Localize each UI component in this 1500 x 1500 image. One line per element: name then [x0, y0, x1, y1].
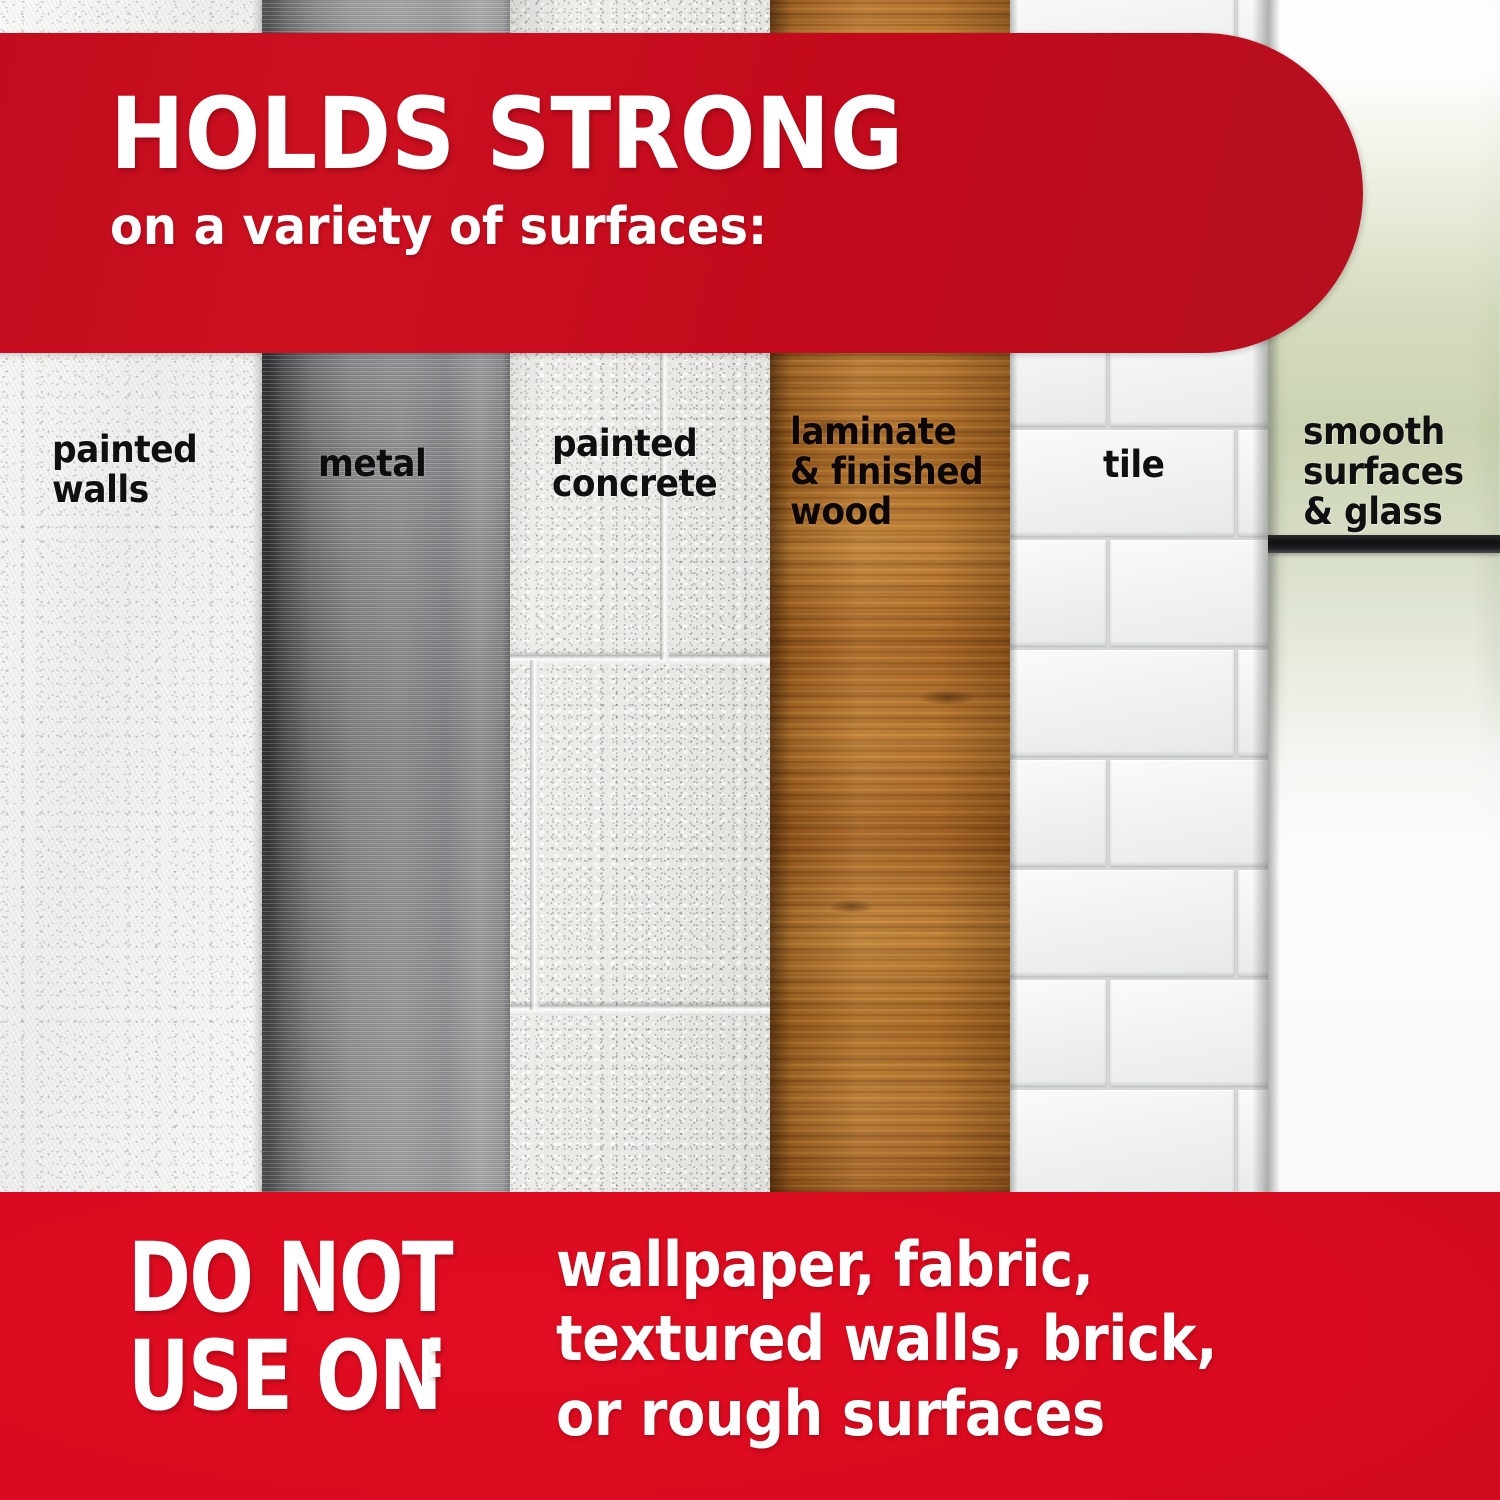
exclusion-line: wallpaper, fabric,: [556, 1228, 1405, 1302]
exclusion-line: or rough surfaces: [556, 1377, 1405, 1451]
exclusion-list: wallpaper, fabric, textured walls, brick…: [556, 1228, 1500, 1451]
tile-unit: [1010, 650, 1234, 756]
exclusion-line: textured walls, brick,: [556, 1302, 1405, 1376]
subheadline-variety-of-surfaces: on a variety of surfaces:: [110, 200, 1152, 255]
tile-unit: [1010, 870, 1234, 976]
mortar-joint-horizontal: [510, 655, 770, 664]
tile-unit: [1238, 650, 1268, 756]
tile-unit: [1238, 870, 1268, 976]
tile-unit: [1110, 980, 1268, 1086]
tile-unit: [1238, 1090, 1268, 1192]
surface-label-wood: laminate & finished wood: [790, 412, 983, 532]
window-frame-bar: [1268, 535, 1500, 553]
surface-label-metal: metal: [318, 444, 426, 484]
holds-strong-banner: HOLDS STRONG on a variety of surfaces:: [0, 33, 1363, 353]
heading-colon: :: [424, 1316, 447, 1388]
surface-label-painted-walls: painted walls: [52, 430, 197, 510]
tile-unit: [1010, 540, 1106, 646]
tile-unit: [1110, 760, 1268, 866]
mortar-joint-horizontal: [510, 1005, 770, 1014]
surface-label-glass: smooth surfaces & glass: [1303, 412, 1464, 532]
use-on-line: USE ON: [128, 1328, 452, 1426]
holds-strong-banner-content: HOLDS STRONG on a variety of surfaces:: [110, 85, 1243, 255]
product-surface-infographic: painted walls metal painted concrete lam…: [0, 0, 1500, 1500]
headline-holds-strong: HOLDS STRONG: [110, 85, 1130, 184]
tile-unit: [1010, 980, 1106, 1086]
tile-unit: [1110, 540, 1268, 646]
tile-unit: [1238, 430, 1268, 536]
do-not-use-on-heading: DO NOT USE ON :: [128, 1230, 538, 1426]
mortar-joint-vertical: [530, 660, 539, 1010]
do-not-line: DO NOT: [128, 1230, 452, 1328]
surface-label-tile: tile: [1103, 445, 1165, 485]
tile-unit: [1010, 760, 1106, 866]
surface-label-painted-concrete: painted concrete: [552, 424, 717, 504]
tile-unit: [1010, 1090, 1234, 1192]
do-not-use-banner: DO NOT USE ON : wallpaper, fabric, textu…: [0, 1192, 1500, 1500]
